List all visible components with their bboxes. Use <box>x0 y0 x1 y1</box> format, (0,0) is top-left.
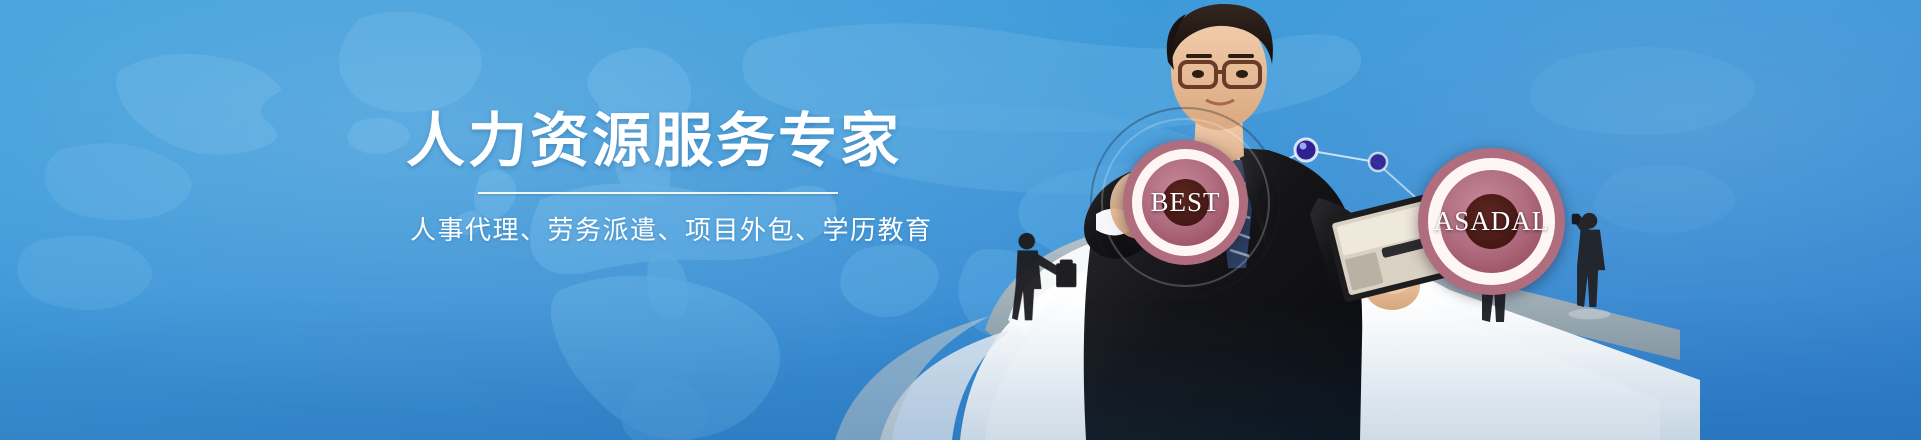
divider <box>478 192 838 194</box>
asadal-badge[interactable]: ASADAL <box>1418 148 1565 295</box>
best-badge[interactable]: BEST <box>1123 140 1248 265</box>
page-title: 人力资源服务专家 <box>406 112 876 171</box>
headline-block: 人力资源服务专家 人事代理、劳务派遣、项目外包、学历教育 <box>406 112 876 247</box>
hero-banner: 人力资源服务专家 人事代理、劳务派遣、项目外包、学历教育 BEST ASADAL <box>0 0 1921 440</box>
asadal-badge-label: ASADAL <box>1434 206 1550 237</box>
subtitle: 人事代理、劳务派遣、项目外包、学历教育 <box>410 210 844 247</box>
businessman-composition <box>0 0 1921 440</box>
best-badge-label: BEST <box>1150 187 1220 218</box>
